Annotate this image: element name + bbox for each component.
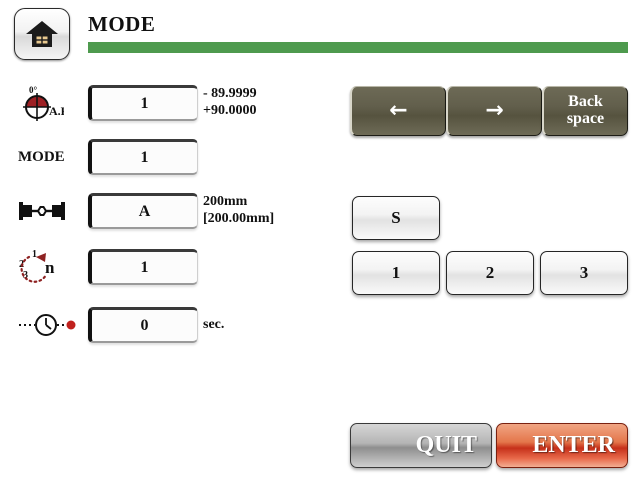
angle-max-value: +90.0000 — [203, 103, 257, 120]
form-row-delay-time: 0 sec. — [0, 303, 330, 347]
length-actual: [200.00mm] — [203, 211, 274, 228]
angle-reference-range: - 89.9999 +90.0000 — [203, 81, 257, 125]
backspace-label-line1: Back — [568, 94, 603, 111]
form-row-workpiece-length: A 200mm [200.00mm] — [0, 189, 330, 233]
key-3-button[interactable]: 3 — [540, 251, 628, 295]
workpiece-clamp-icon — [18, 189, 84, 233]
page-title: MODE — [88, 12, 155, 37]
delay-time-input[interactable]: 0 — [88, 307, 198, 343]
repeat-cycle-icon: 2 1 3 n — [18, 245, 84, 289]
angle-dial-icon: 0° A.R. — [18, 81, 84, 125]
arrow-left-icon: ← — [389, 100, 407, 122]
key-2-button[interactable]: 2 — [446, 251, 534, 295]
backspace-label-line2: space — [567, 111, 604, 128]
svg-text:n: n — [45, 258, 55, 277]
enter-button[interactable]: ENTER — [496, 423, 628, 468]
delay-unit-label: sec. — [203, 317, 224, 334]
angle-reference-input[interactable]: 1 — [88, 85, 198, 121]
title-underline-bar — [88, 42, 628, 53]
svg-text:1: 1 — [32, 249, 37, 260]
svg-text:A.R.: A.R. — [49, 104, 64, 118]
length-nominal: 200mm — [203, 194, 274, 211]
quit-button[interactable]: QUIT — [350, 423, 492, 468]
form-row-mode: MODE 1 — [0, 135, 330, 179]
arrow-left-button[interactable]: ← — [350, 86, 446, 136]
mode-label: MODE — [18, 135, 84, 179]
key-1-button[interactable]: 1 — [352, 251, 440, 295]
workpiece-length-note: 200mm [200.00mm] — [203, 189, 274, 233]
home-button[interactable] — [14, 8, 70, 60]
form-row-repeat-count: 2 1 3 n 1 — [0, 245, 330, 289]
mode-screen: MODE 0° A.R. 1 - 89.9999 +90.0000 MODE 1 — [0, 0, 638, 480]
form-row-angle-reference: 0° A.R. 1 - 89.9999 +90.0000 — [0, 81, 330, 125]
home-icon — [25, 19, 59, 49]
mode-input[interactable]: 1 — [88, 139, 198, 175]
arrow-right-button[interactable]: → — [446, 86, 542, 136]
timer-clock-icon — [18, 303, 84, 347]
backspace-button[interactable]: Back space — [542, 86, 628, 136]
delay-time-unit: sec. — [203, 303, 224, 347]
arrow-right-icon: → — [485, 100, 503, 122]
key-s-button[interactable]: S — [352, 196, 440, 240]
workpiece-length-input[interactable]: A — [88, 193, 198, 229]
angle-min-value: - 89.9999 — [203, 86, 257, 103]
repeat-count-input[interactable]: 1 — [88, 249, 198, 285]
